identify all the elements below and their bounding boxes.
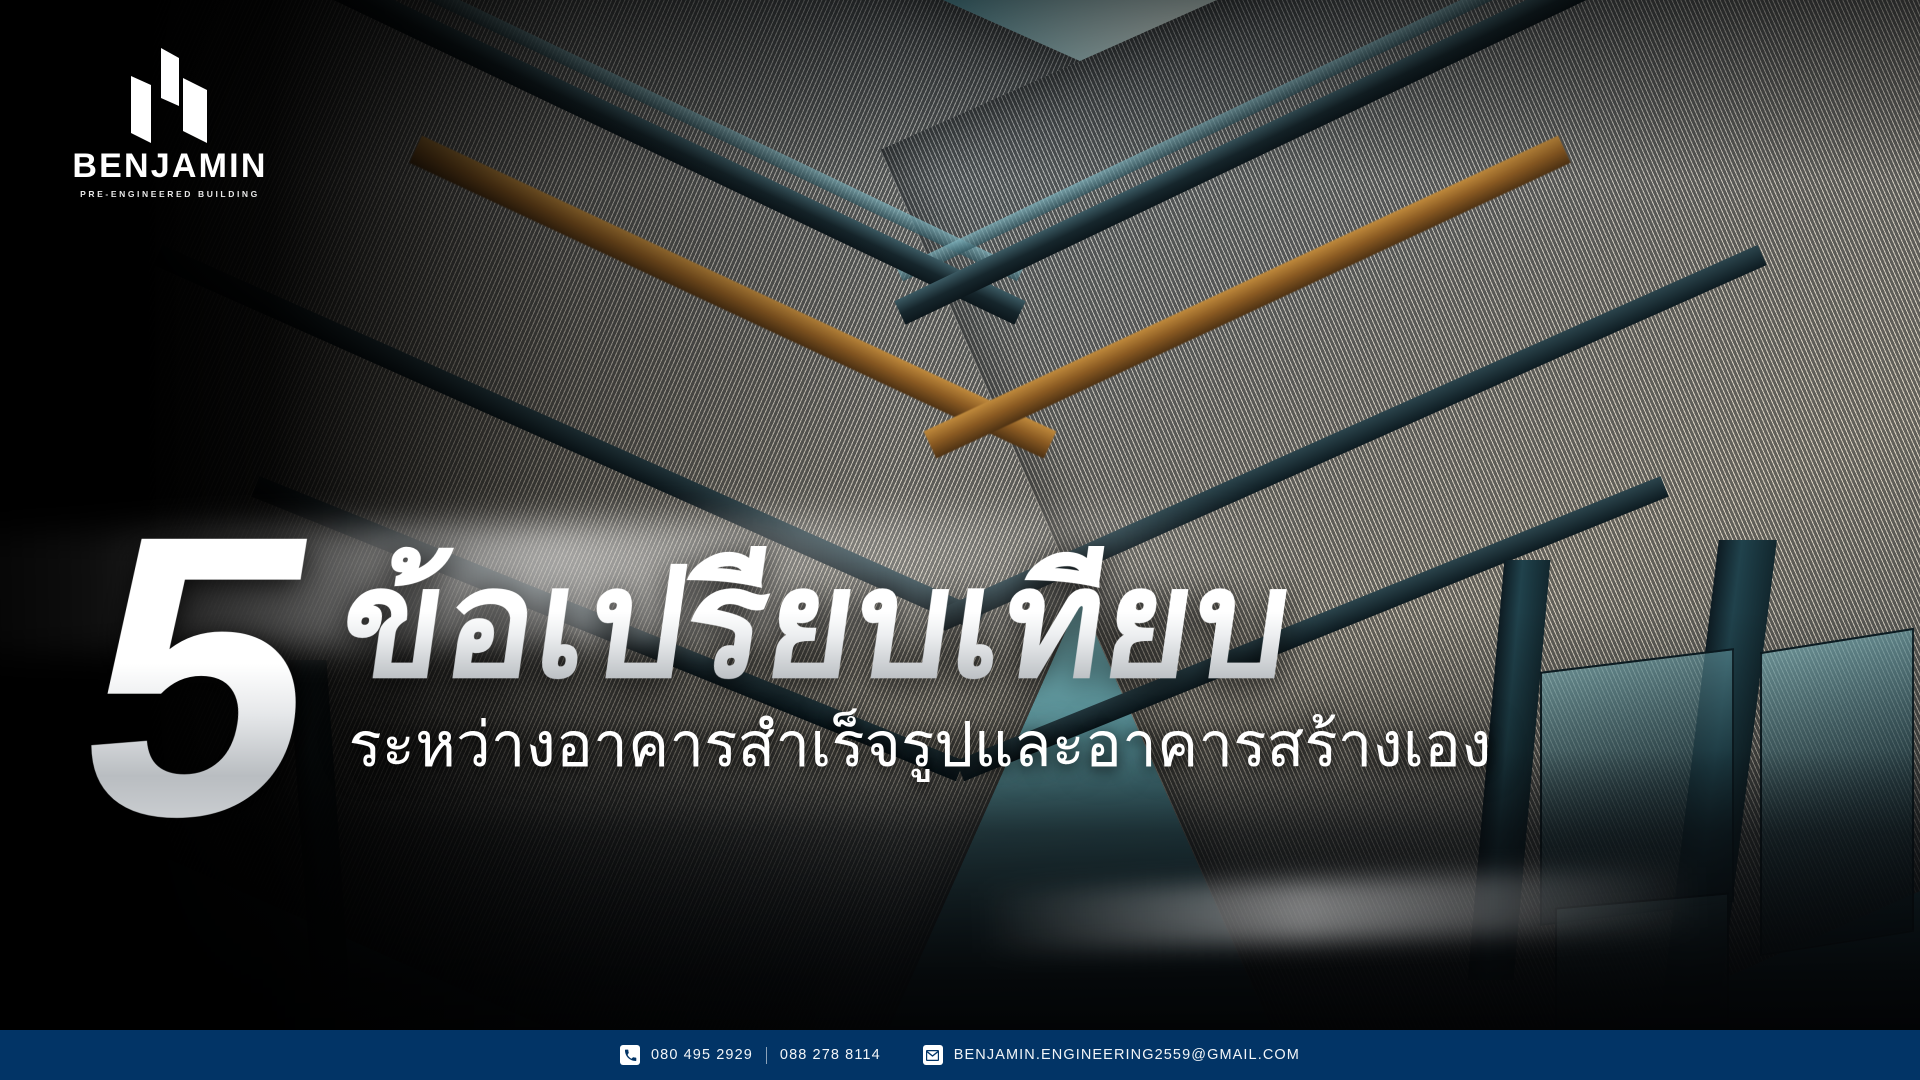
phone-primary: 080 495 2929 (651, 1047, 753, 1063)
email-contact-group[interactable]: BENJAMIN.ENGINEERING2559@GMAIL.COM (923, 1045, 1300, 1065)
brand-tagline: PRE-ENGINEERED BUILDING (55, 190, 285, 199)
brand-logo: BENJAMIN PRE-ENGINEERED BUILDING (55, 48, 285, 199)
contact-footer-bar: 080 495 2929 088 278 8114 BENJAMIN.ENGIN… (0, 1030, 1920, 1080)
phone-contact-group[interactable]: 080 495 2929 088 278 8114 (620, 1045, 881, 1065)
building-mark-icon (55, 48, 285, 143)
hero-number: 5 (65, 520, 341, 832)
phone-divider (766, 1047, 767, 1064)
envelope-icon (923, 1045, 943, 1065)
brand-name: BENJAMIN (55, 149, 285, 183)
email-address: BENJAMIN.ENGINEERING2559@GMAIL.COM (954, 1047, 1300, 1063)
phone-icon (620, 1045, 640, 1065)
hero-title: ข้อเปรียบเทียบ (332, 546, 1503, 701)
hero-subtitle: ระหว่างอาคารสำเร็จรูปและอาคารสร้างเอง (348, 711, 1491, 779)
hero-headline-block: 5 ข้อเปรียบเทียบ ระหว่างอาคารสำเร็จรูปแล… (90, 520, 1610, 832)
poster-canvas: BENJAMIN PRE-ENGINEERED BUILDING 5 ข้อเป… (0, 0, 1920, 1080)
phone-secondary: 088 278 8114 (780, 1047, 881, 1063)
